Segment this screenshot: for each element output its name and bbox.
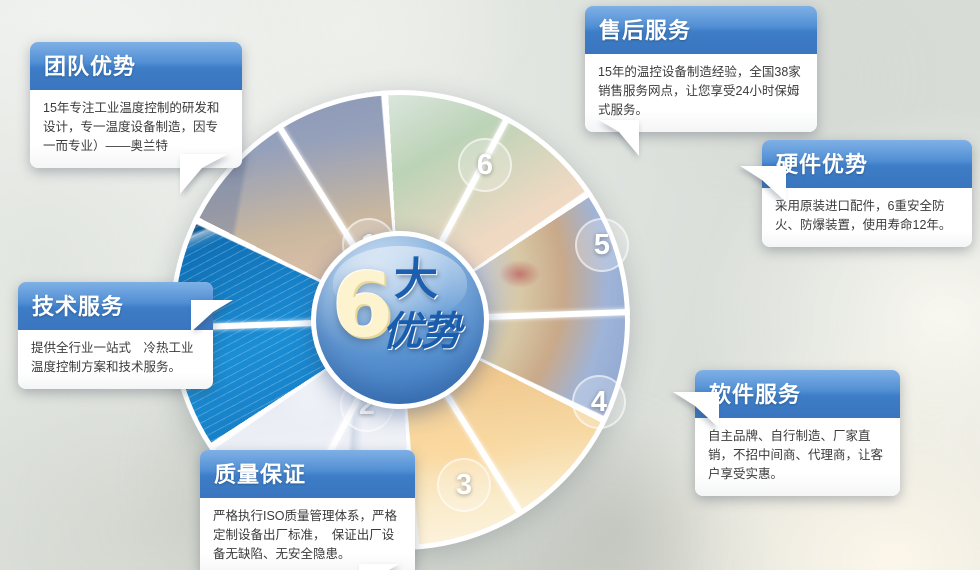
callout-body-hardware: 采用原装进口配件，6重安全防火、防爆装置，使用寿命12年。 (762, 188, 972, 247)
callout-title-technical: 技术服务 (18, 282, 213, 330)
center-word-da: 大 (394, 258, 438, 302)
callout-card-software[interactable]: 软件服务 自主品牌、自行制造、厂家直销，不招中间商、代理商，让客户享受实惠。 (695, 370, 900, 496)
segment-number-3-label: 3 (456, 469, 472, 502)
center-text-group: 6 大 优势 (316, 236, 484, 404)
callout-tail-quality (359, 564, 399, 570)
center-bubble[interactable]: 6 大 优势 (311, 231, 489, 409)
callout-title-software: 软件服务 (695, 370, 900, 418)
callout-title-team: 团队优势 (30, 42, 242, 90)
callout-card-technical[interactable]: 技术服务 提供全行业一站式 冷热工业温度控制方案和技术服务。 (18, 282, 213, 389)
callout-card-hardware[interactable]: 硬件优势 采用原装进口配件，6重安全防火、防爆装置，使用寿命12年。 (762, 140, 972, 247)
segment-number-6[interactable]: 6 (458, 138, 512, 192)
callout-body-technical: 提供全行业一站式 冷热工业温度控制方案和技术服务。 (18, 330, 213, 389)
callout-body-software: 自主品牌、自行制造、厂家直销，不招中间商、代理商，让客户享受实惠。 (695, 418, 900, 496)
callout-title-after-sales: 售后服务 (585, 6, 817, 54)
callout-title-hardware: 硬件优势 (762, 140, 972, 188)
callout-title-quality: 质量保证 (200, 450, 415, 498)
segment-number-4[interactable]: 4 (572, 375, 626, 429)
callout-card-team[interactable]: 团队优势 15年专注工业温度控制的研发和设计，专一温度设备制造，因专一而专业）—… (30, 42, 242, 168)
segment-number-3[interactable]: 3 (437, 458, 491, 512)
callout-card-after-sales[interactable]: 售后服务 15年的温控设备制造经验，全国38家销售服务网点，让您享受24小时保姆… (585, 6, 817, 132)
segment-number-5-label: 5 (594, 229, 610, 262)
callout-tail-hardware (740, 166, 786, 202)
center-word-youshi: 优势 (382, 310, 460, 354)
segment-number-4-label: 4 (591, 386, 607, 419)
segment-number-5[interactable]: 5 (575, 218, 629, 272)
callout-tail-after-sales (599, 120, 639, 156)
callout-body-quality: 严格执行ISO质量管理体系，严格定制设备出厂标准， 保证出厂设备无缺陷、无安全隐… (200, 498, 415, 570)
callout-tail-technical (191, 300, 233, 332)
callout-tail-team (180, 154, 228, 194)
callout-tail-software (673, 392, 719, 428)
segment-number-6-label: 6 (477, 149, 493, 182)
callout-card-quality[interactable]: 质量保证 严格执行ISO质量管理体系，严格定制设备出厂标准， 保证出厂设备无缺陷… (200, 450, 415, 570)
